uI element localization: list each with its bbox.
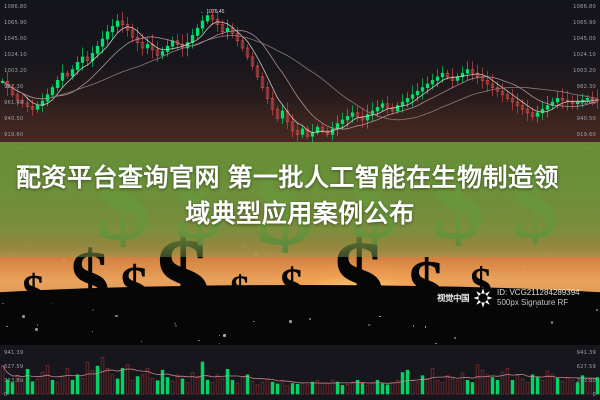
axis-tick-label: 1045.00	[573, 36, 596, 42]
axis-tick-label: 313.80	[4, 378, 23, 384]
axis-tick-label: 941.39	[4, 350, 23, 356]
axis-tick-label: 919.60	[577, 132, 596, 138]
sparkle	[6, 326, 7, 327]
page-title: 配资平台查询官网 第一批人工智能在生物制造领 域典型应用案例公布	[0, 160, 600, 233]
sparkle	[435, 343, 436, 344]
sparkle	[2, 303, 3, 304]
peak-annotation: ← 1076.45	[200, 9, 224, 15]
axis-tick-label: 982.30	[4, 84, 23, 90]
axis-tick-label: 940.50	[577, 116, 596, 122]
sparkle	[289, 320, 292, 323]
dollar-sign-5: $	[230, 270, 250, 310]
axis-tick-label: 0	[4, 392, 8, 398]
screenshot-root: $$$$$$$$$$$$$$$ 1086.801065.901045.00102…	[0, 0, 600, 400]
axis-tick-label: 1086.80	[573, 4, 596, 10]
axis-tick-label: 1065.90	[4, 20, 27, 26]
volume-series	[0, 345, 600, 400]
peak-arrow-icon: ←	[200, 9, 205, 15]
watermark-brand: 视觉中国	[437, 292, 469, 304]
axis-tick-label: 627.59	[4, 364, 23, 370]
dollar-sign-1: $	[22, 268, 45, 314]
sky-sparkle	[63, 260, 65, 262]
axis-tick-label: 919.60	[4, 132, 23, 138]
starburst-icon	[472, 287, 494, 309]
volume-panel: 941.39627.59313.800 941.39627.59313.800	[0, 345, 600, 400]
axis-tick-label: 961.40	[577, 100, 596, 106]
axis-tick-label: 1003.20	[4, 68, 27, 74]
sparkle	[219, 343, 220, 344]
sparkle	[223, 334, 226, 337]
axis-tick-label: 961.40	[4, 100, 23, 106]
axis-tick-label: 1086.80	[4, 4, 27, 10]
sparkle	[596, 309, 598, 311]
axis-tick-label: 313.80	[577, 378, 596, 384]
watermark-id: ID: VCG211284289394	[497, 288, 580, 298]
axis-tick-label: 941.39	[577, 350, 596, 356]
axis-tick-label: 1065.90	[573, 20, 596, 26]
sparkle	[51, 303, 52, 304]
axis-tick-label: 0	[592, 392, 596, 398]
axis-tick-label: 627.59	[577, 364, 596, 370]
sparkle	[35, 328, 37, 330]
headline-line-2: 域典型应用案例公布	[0, 196, 600, 232]
price-candlestick-panel: 1086.801065.901045.001024.101003.20982.3…	[0, 0, 600, 150]
sparkle	[92, 331, 93, 332]
watermark-license: 500px Signature RF	[497, 298, 580, 308]
axis-tick-label: 982.30	[577, 84, 596, 90]
watermark: 视觉中国 ID: VCG211284289394 500px Signature…	[437, 287, 580, 309]
candlestick-series	[0, 0, 600, 150]
axis-tick-label: 1024.10	[573, 52, 596, 58]
sky-sparkle	[522, 265, 524, 267]
axis-tick-label: 940.50	[4, 116, 23, 122]
headline-line-1: 配资平台查询官网 第一批人工智能在生物制造领	[0, 160, 600, 196]
axis-tick-label: 1003.20	[573, 68, 596, 74]
dollar-sign-3: $	[120, 258, 149, 316]
sparkle	[454, 337, 456, 339]
axis-tick-label: 1045.00	[4, 36, 27, 42]
axis-tick-label: 1024.10	[4, 52, 27, 58]
